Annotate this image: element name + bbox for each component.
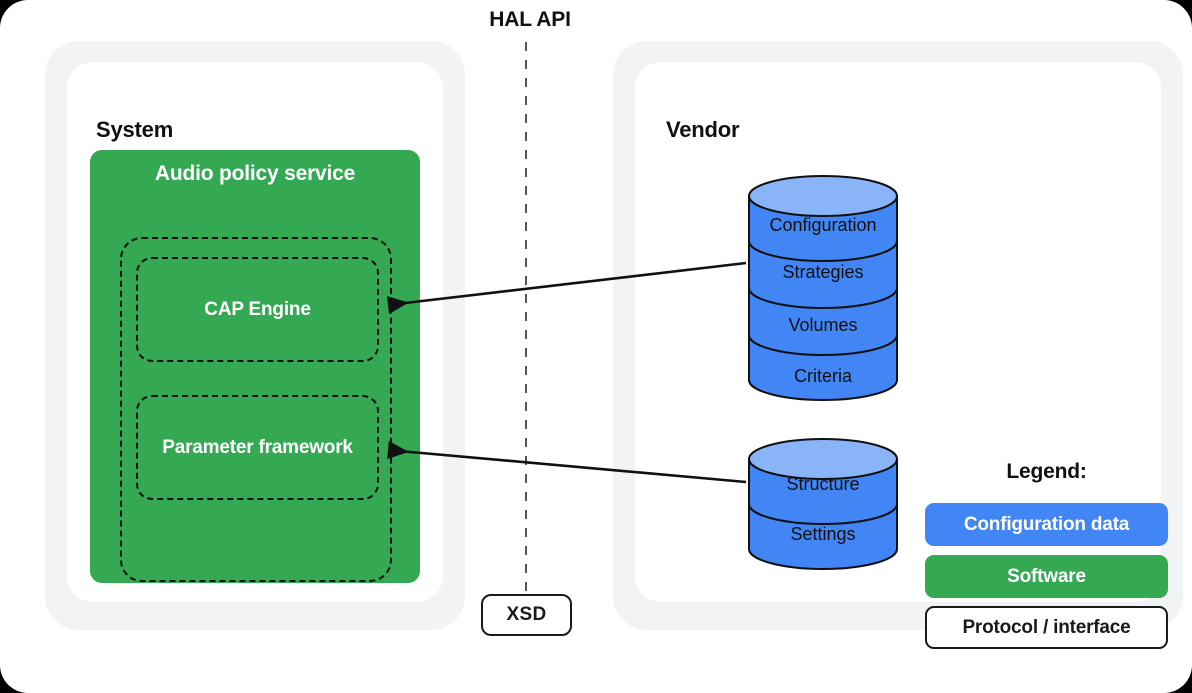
- segment-structure: Structure: [748, 465, 898, 503]
- diagram-canvas: HAL API System Audio policy service CAP …: [0, 0, 1192, 693]
- datastore-parameter-store[interactable]: Structure Settings: [748, 438, 898, 570]
- module-parameter-framework[interactable]: Parameter framework: [136, 395, 379, 500]
- legend-item-software[interactable]: Software: [925, 555, 1168, 598]
- legend-title: Legend:: [925, 460, 1168, 484]
- segment-strategies: Strategies: [748, 253, 898, 291]
- system-zone-title: System: [96, 117, 173, 143]
- xsd-label: XSD: [507, 604, 547, 626]
- legend-item-configuration-data[interactable]: Configuration data: [925, 503, 1168, 546]
- segment-volumes: Volumes: [748, 306, 898, 344]
- hal-api-label: HAL API: [0, 8, 1060, 32]
- segment-settings: Settings: [748, 515, 898, 553]
- legend-item-software-label: Software: [1007, 566, 1086, 588]
- module-cap-engine[interactable]: CAP Engine: [136, 257, 379, 362]
- segment-criteria: Criteria: [748, 357, 898, 395]
- legend-item-protocol-interface[interactable]: Protocol / interface: [925, 606, 1168, 649]
- legend-item-configuration-data-label: Configuration data: [964, 514, 1129, 536]
- audio-policy-service-block: Audio policy service CAP Engine Paramete…: [90, 150, 420, 583]
- segment-configuration: Configuration: [748, 206, 898, 244]
- module-cap-engine-label: CAP Engine: [204, 299, 310, 321]
- datastore-configuration-store[interactable]: Configuration Strategies Volumes Criteri…: [748, 175, 898, 401]
- vendor-zone-title: Vendor: [666, 117, 739, 143]
- legend-item-protocol-interface-label: Protocol / interface: [962, 617, 1130, 639]
- xsd-protocol-box[interactable]: XSD: [481, 594, 572, 636]
- module-parameter-framework-label: Parameter framework: [162, 437, 353, 459]
- audio-policy-service-title: Audio policy service: [90, 162, 420, 186]
